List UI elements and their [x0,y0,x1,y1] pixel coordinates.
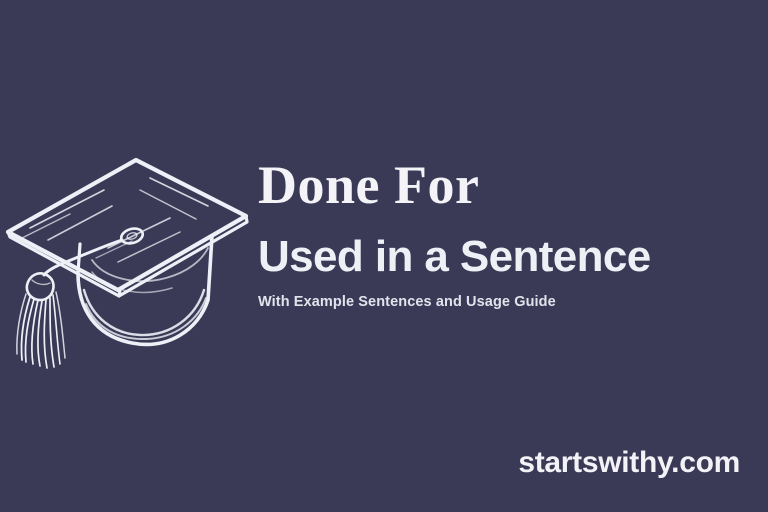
page-title: Done For [258,158,758,212]
hero-text-block: Done For Used in a Sentence With Example… [258,158,758,312]
page-subtitle: Used in a Sentence [258,234,758,280]
site-brand: startswithy.com [518,446,740,480]
page-card: Done For Used in a Sentence With Example… [0,0,768,512]
graduation-cap-icon [0,140,260,370]
page-tagline: With Example Sentences and Usage Guide [258,294,758,311]
